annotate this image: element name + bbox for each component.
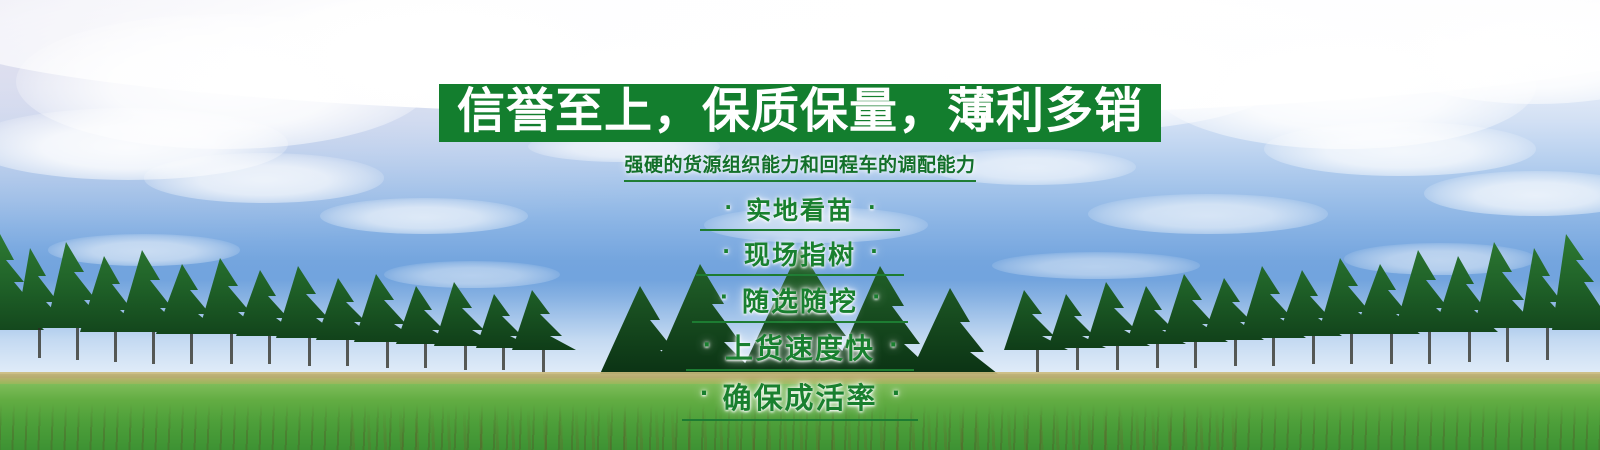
- bullet-dot-icon: ·: [722, 241, 730, 262]
- feature-label: 确保成活率: [722, 375, 877, 417]
- feature-list: · 实地看苗 · · 现场指树 · · 随选随挖 · · 上货速度快 · ·: [682, 191, 918, 425]
- banner-content: 信誉至上，保质保量，薄利多销 强硬的货源组织能力和回程车的调配能力 · 实地看苗…: [0, 0, 1600, 425]
- bullet-dot-icon: ·: [700, 382, 709, 405]
- subtitle-text: 强硬的货源组织能力和回程车的调配能力: [624, 150, 975, 182]
- feature-item: · 随选随挖 ·: [692, 280, 908, 323]
- bullet-dot-icon: ·: [868, 197, 876, 217]
- feature-item: · 现场指树 ·: [696, 235, 904, 276]
- bullet-dot-icon: ·: [870, 241, 878, 262]
- feature-item: · 确保成活率 ·: [682, 375, 918, 421]
- feature-label: 现场指树: [744, 235, 856, 272]
- promo-banner: 信誉至上，保质保量，薄利多销 强硬的货源组织能力和回程车的调配能力 · 实地看苗…: [0, 0, 1600, 450]
- feature-item: · 上货速度快 ·: [686, 327, 914, 371]
- bullet-dot-icon: ·: [872, 287, 880, 309]
- feature-item: · 实地看苗 ·: [700, 191, 900, 231]
- bullet-dot-icon: ·: [720, 287, 728, 309]
- feature-label: 随选随挖: [742, 280, 858, 319]
- bullet-dot-icon: ·: [724, 197, 732, 217]
- feature-label: 实地看苗: [746, 191, 854, 227]
- bullet-dot-icon: ·: [889, 334, 898, 356]
- feature-label: 上货速度快: [725, 327, 875, 367]
- bullet-dot-icon: ·: [702, 334, 711, 356]
- headline-text: 信誉至上，保质保量，薄利多销: [457, 87, 1143, 135]
- bullet-dot-icon: ·: [892, 382, 901, 405]
- headline-banner-box: 信誉至上，保质保量，薄利多销: [439, 84, 1161, 142]
